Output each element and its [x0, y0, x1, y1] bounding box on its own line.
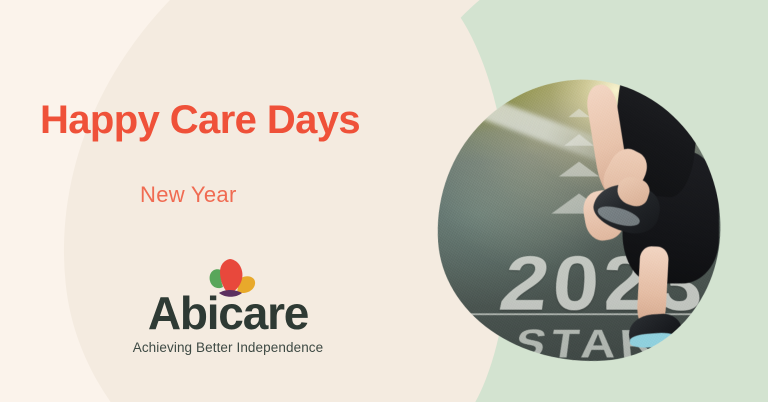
logo-tagline: Achieving Better Independence	[113, 340, 343, 355]
logo-wordmark: Abicare	[113, 290, 343, 336]
photo-scene: 2023 START	[428, 70, 730, 371]
photo-grain-texture	[428, 70, 730, 371]
page-subtitle: New Year	[140, 182, 237, 208]
page-title: Happy Care Days	[40, 98, 360, 143]
runner-photo-blob: 2023 START	[428, 70, 730, 371]
new-year-banner: 2023 START Happy Care Days New Year	[0, 0, 768, 402]
